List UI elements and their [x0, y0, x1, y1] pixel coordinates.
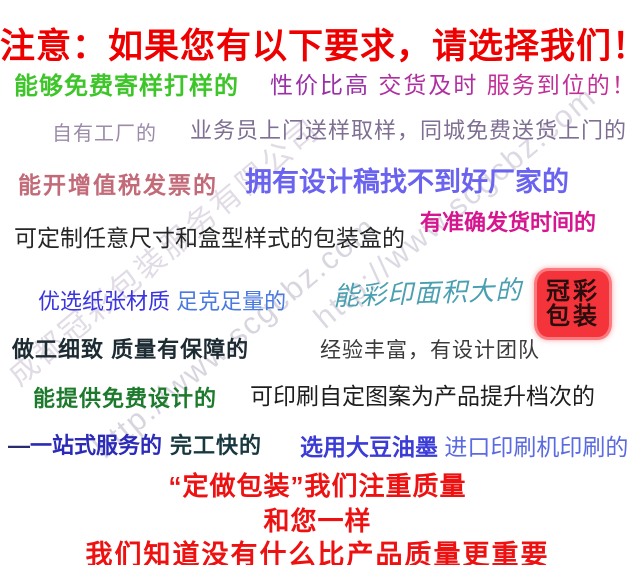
feature-experienced: 经验丰富，有设计团队: [320, 334, 540, 364]
feature-design-draft: 拥有设计稿找不到好厂家的: [245, 160, 569, 199]
feature-large-area-print: 能彩印面积大的: [332, 270, 522, 314]
feature-vat-invoice: 能开增值税发票的: [18, 166, 218, 200]
feature-custom-pattern: 可印刷自定图案为产品提升档次的: [250, 377, 595, 411]
feature-workmanship-group: 做工细致 质量有保障的: [12, 332, 249, 364]
feature-accurate-time: 有准确发货时间的: [420, 205, 596, 237]
seal-body: 冠彩 包装: [534, 268, 612, 340]
feature-fine-workmanship: 做工细致: [12, 337, 104, 362]
feature-custom-size: 可定制任意尺寸和盒型样式的包装盒的: [14, 219, 405, 253]
feature-soy-ink: 选用大豆油墨: [300, 434, 438, 460]
feature-value-group: 性价比高 交货及时 服务到位的！: [270, 66, 635, 100]
feature-fast-finish: 完工快的: [170, 428, 262, 460]
feature-door-to-door: 业务员上门送样取样，同城免费送货上门的: [190, 113, 627, 145]
promo-poster: 成都冠彩包装服务有限公司 http://www.scgcbz.com http:…: [0, 0, 635, 565]
footer-slogan-line-1: “定做包装”我们注重质量: [0, 466, 635, 503]
one-stop-dash: —: [8, 433, 30, 458]
feature-quality-assured: 质量有保障的: [111, 337, 249, 362]
feature-own-factory: 自有工厂的: [52, 117, 157, 146]
poster-headline: 注意：如果您有以下要求，请选择我们！: [0, 18, 635, 69]
seal-text-line1: 冠彩: [546, 279, 600, 304]
company-seal-stamp: 冠彩 包装: [534, 268, 612, 340]
feature-one-stop-label: 一站式服务的: [30, 433, 162, 458]
feature-printing-group: 选用大豆油墨 进口印刷机印刷的: [300, 428, 628, 462]
feature-one-stop: —一站式服务的: [8, 428, 162, 460]
feature-free-sample: 能够免费寄样打样的: [14, 66, 239, 101]
feature-paper-material: 优选纸张材质: [38, 289, 170, 314]
footer-slogan-line-3: 我们知道没有什么比产品质量更重要: [0, 533, 635, 565]
feature-service-ready: 服务到位的！: [487, 72, 635, 98]
feature-paper-group: 优选纸张材质 足克足量的: [38, 284, 286, 316]
feature-imported-press: 进口印刷机印刷的: [444, 434, 628, 460]
feature-full-weight: 足克足量的: [176, 289, 286, 314]
feature-value-ratio: 性价比高: [270, 72, 370, 98]
seal-text-line2: 包装: [546, 304, 600, 329]
feature-free-design: 能提供免费设计的: [33, 381, 217, 413]
feature-on-time-delivery: 交货及时: [378, 72, 478, 98]
